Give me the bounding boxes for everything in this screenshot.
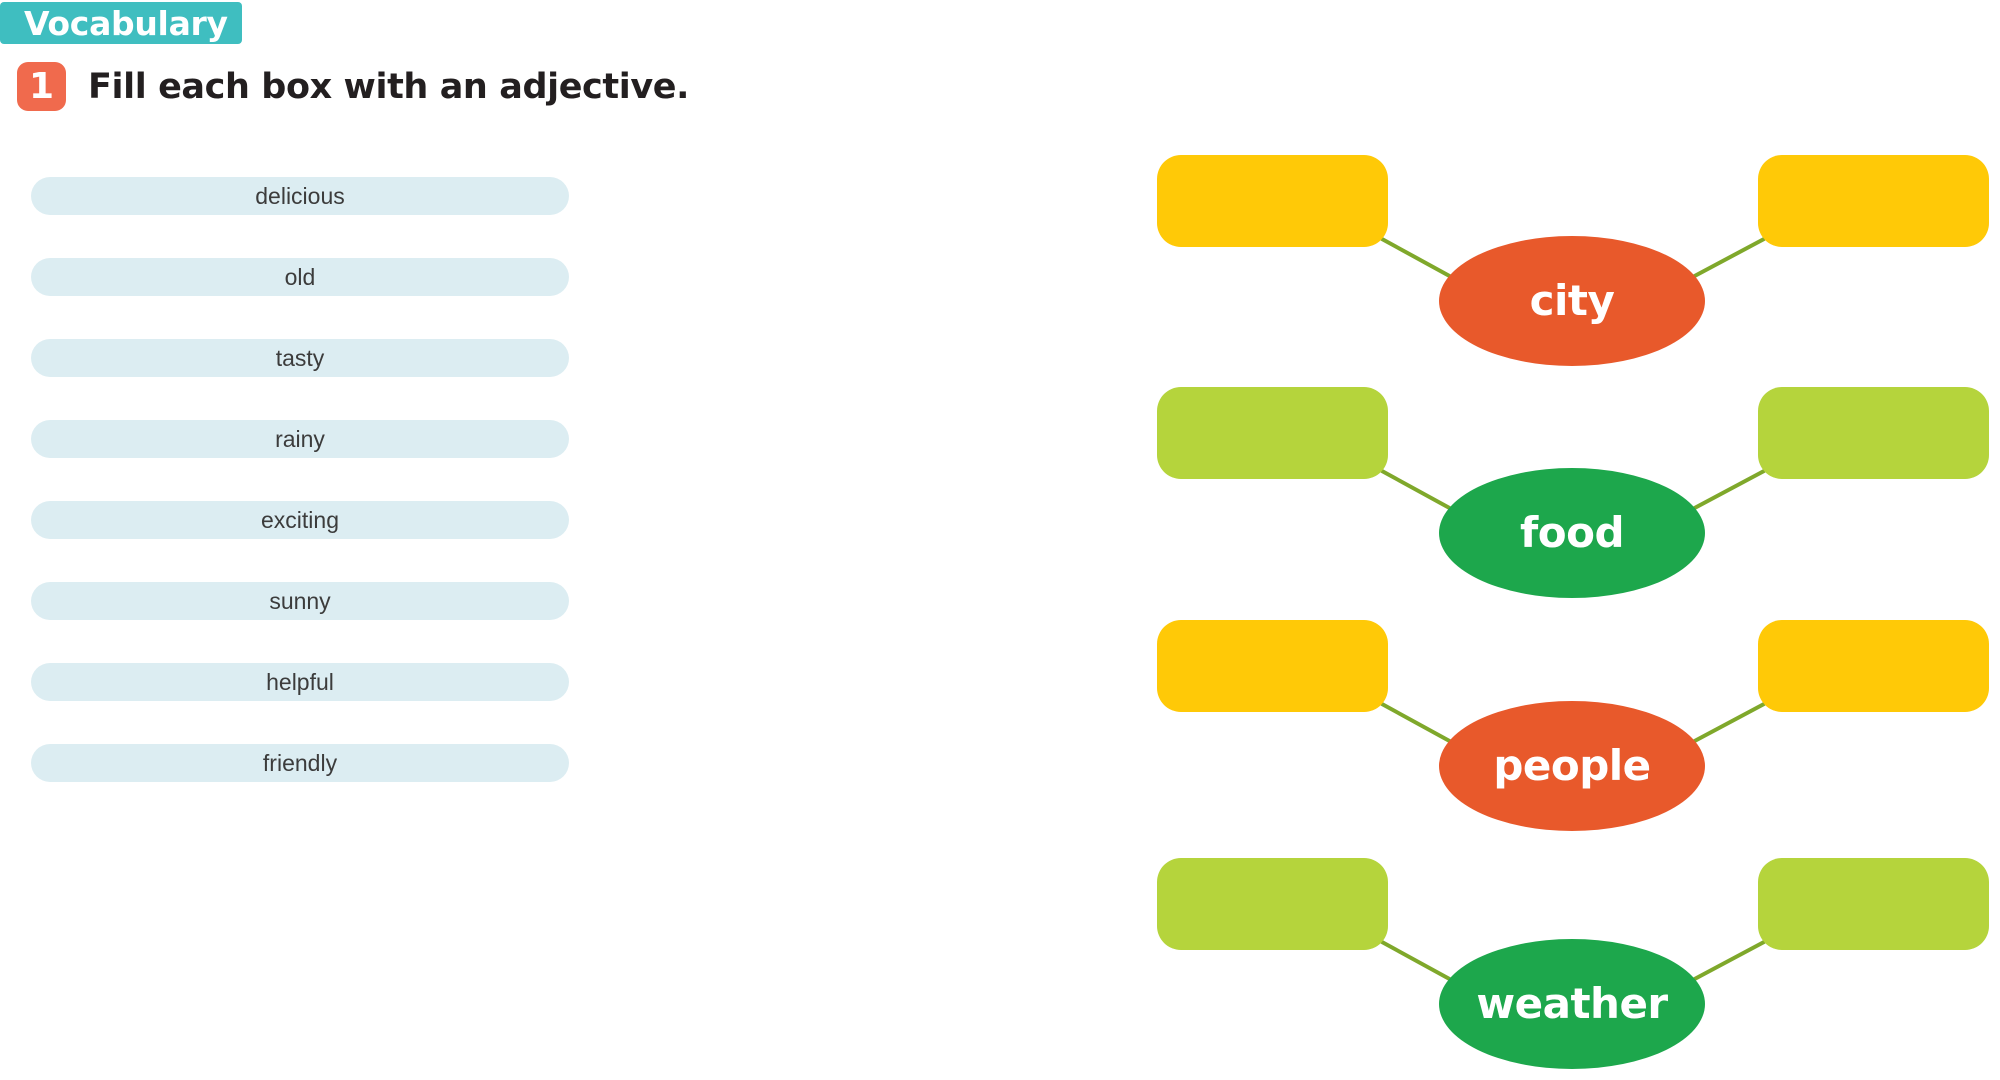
- connector-line: [1689, 239, 1764, 279]
- word-bank-item-label: friendly: [263, 750, 337, 777]
- word-bank-item[interactable]: sunny: [31, 582, 569, 620]
- answer-box-left[interactable]: [1157, 387, 1388, 479]
- word-bank-item-label: exciting: [261, 507, 339, 534]
- word-bank-item-label: helpful: [266, 669, 334, 696]
- word-bank-item-label: delicious: [255, 183, 345, 210]
- word-bank-item[interactable]: delicious: [31, 177, 569, 215]
- connector-line: [1689, 942, 1764, 982]
- exercise-number-badge: 1: [17, 62, 66, 111]
- word-bank-panel: Vocabulary 1 Fill each box with an adjec…: [0, 0, 900, 1080]
- word-bank-item[interactable]: exciting: [31, 501, 569, 539]
- topic-node-label: weather: [1476, 983, 1667, 1025]
- word-bank-item-label: tasty: [276, 345, 325, 372]
- word-bank-list: deliciousoldtastyrainyexcitingsunnyhelpf…: [31, 177, 569, 825]
- connector-line: [1382, 704, 1455, 744]
- answer-box-right[interactable]: [1758, 387, 1989, 479]
- answer-box-right[interactable]: [1758, 620, 1989, 712]
- word-bank-item-label: rainy: [275, 426, 325, 453]
- topic-node: city: [1439, 236, 1705, 366]
- connector-line: [1689, 704, 1764, 744]
- answer-box-left[interactable]: [1157, 858, 1388, 950]
- word-bank-item[interactable]: helpful: [31, 663, 569, 701]
- topic-node-label: city: [1530, 280, 1615, 322]
- connector-line: [1382, 942, 1455, 982]
- word-bank-item[interactable]: tasty: [31, 339, 569, 377]
- word-bank-item-label: sunny: [269, 588, 330, 615]
- worksheet-page: Vocabulary 1 Fill each box with an adjec…: [0, 0, 2000, 1080]
- topic-node: food: [1439, 468, 1705, 598]
- topic-node-label: food: [1520, 512, 1624, 554]
- word-bank-item[interactable]: old: [31, 258, 569, 296]
- connector-line: [1382, 471, 1455, 511]
- connector-line: [1689, 471, 1764, 511]
- mind-map-diagram: cityfoodpeopleweather: [900, 0, 2000, 1080]
- section-title-text: Vocabulary: [24, 4, 228, 43]
- word-bank-item-label: old: [285, 264, 316, 291]
- section-title-badge: Vocabulary: [0, 2, 242, 44]
- topic-node: weather: [1439, 939, 1705, 1069]
- word-bank-item[interactable]: friendly: [31, 744, 569, 782]
- answer-box-right[interactable]: [1758, 155, 1989, 247]
- topic-node-label: people: [1493, 745, 1650, 787]
- answer-box-right[interactable]: [1758, 858, 1989, 950]
- exercise-heading: 1 Fill each box with an adjective.: [17, 62, 689, 111]
- answer-box-left[interactable]: [1157, 155, 1388, 247]
- connector-line: [1382, 239, 1455, 279]
- word-bank-item[interactable]: rainy: [31, 420, 569, 458]
- exercise-instruction-text: Fill each box with an adjective.: [88, 67, 689, 107]
- answer-box-left[interactable]: [1157, 620, 1388, 712]
- topic-node: people: [1439, 701, 1705, 831]
- exercise-number-text: 1: [29, 66, 54, 107]
